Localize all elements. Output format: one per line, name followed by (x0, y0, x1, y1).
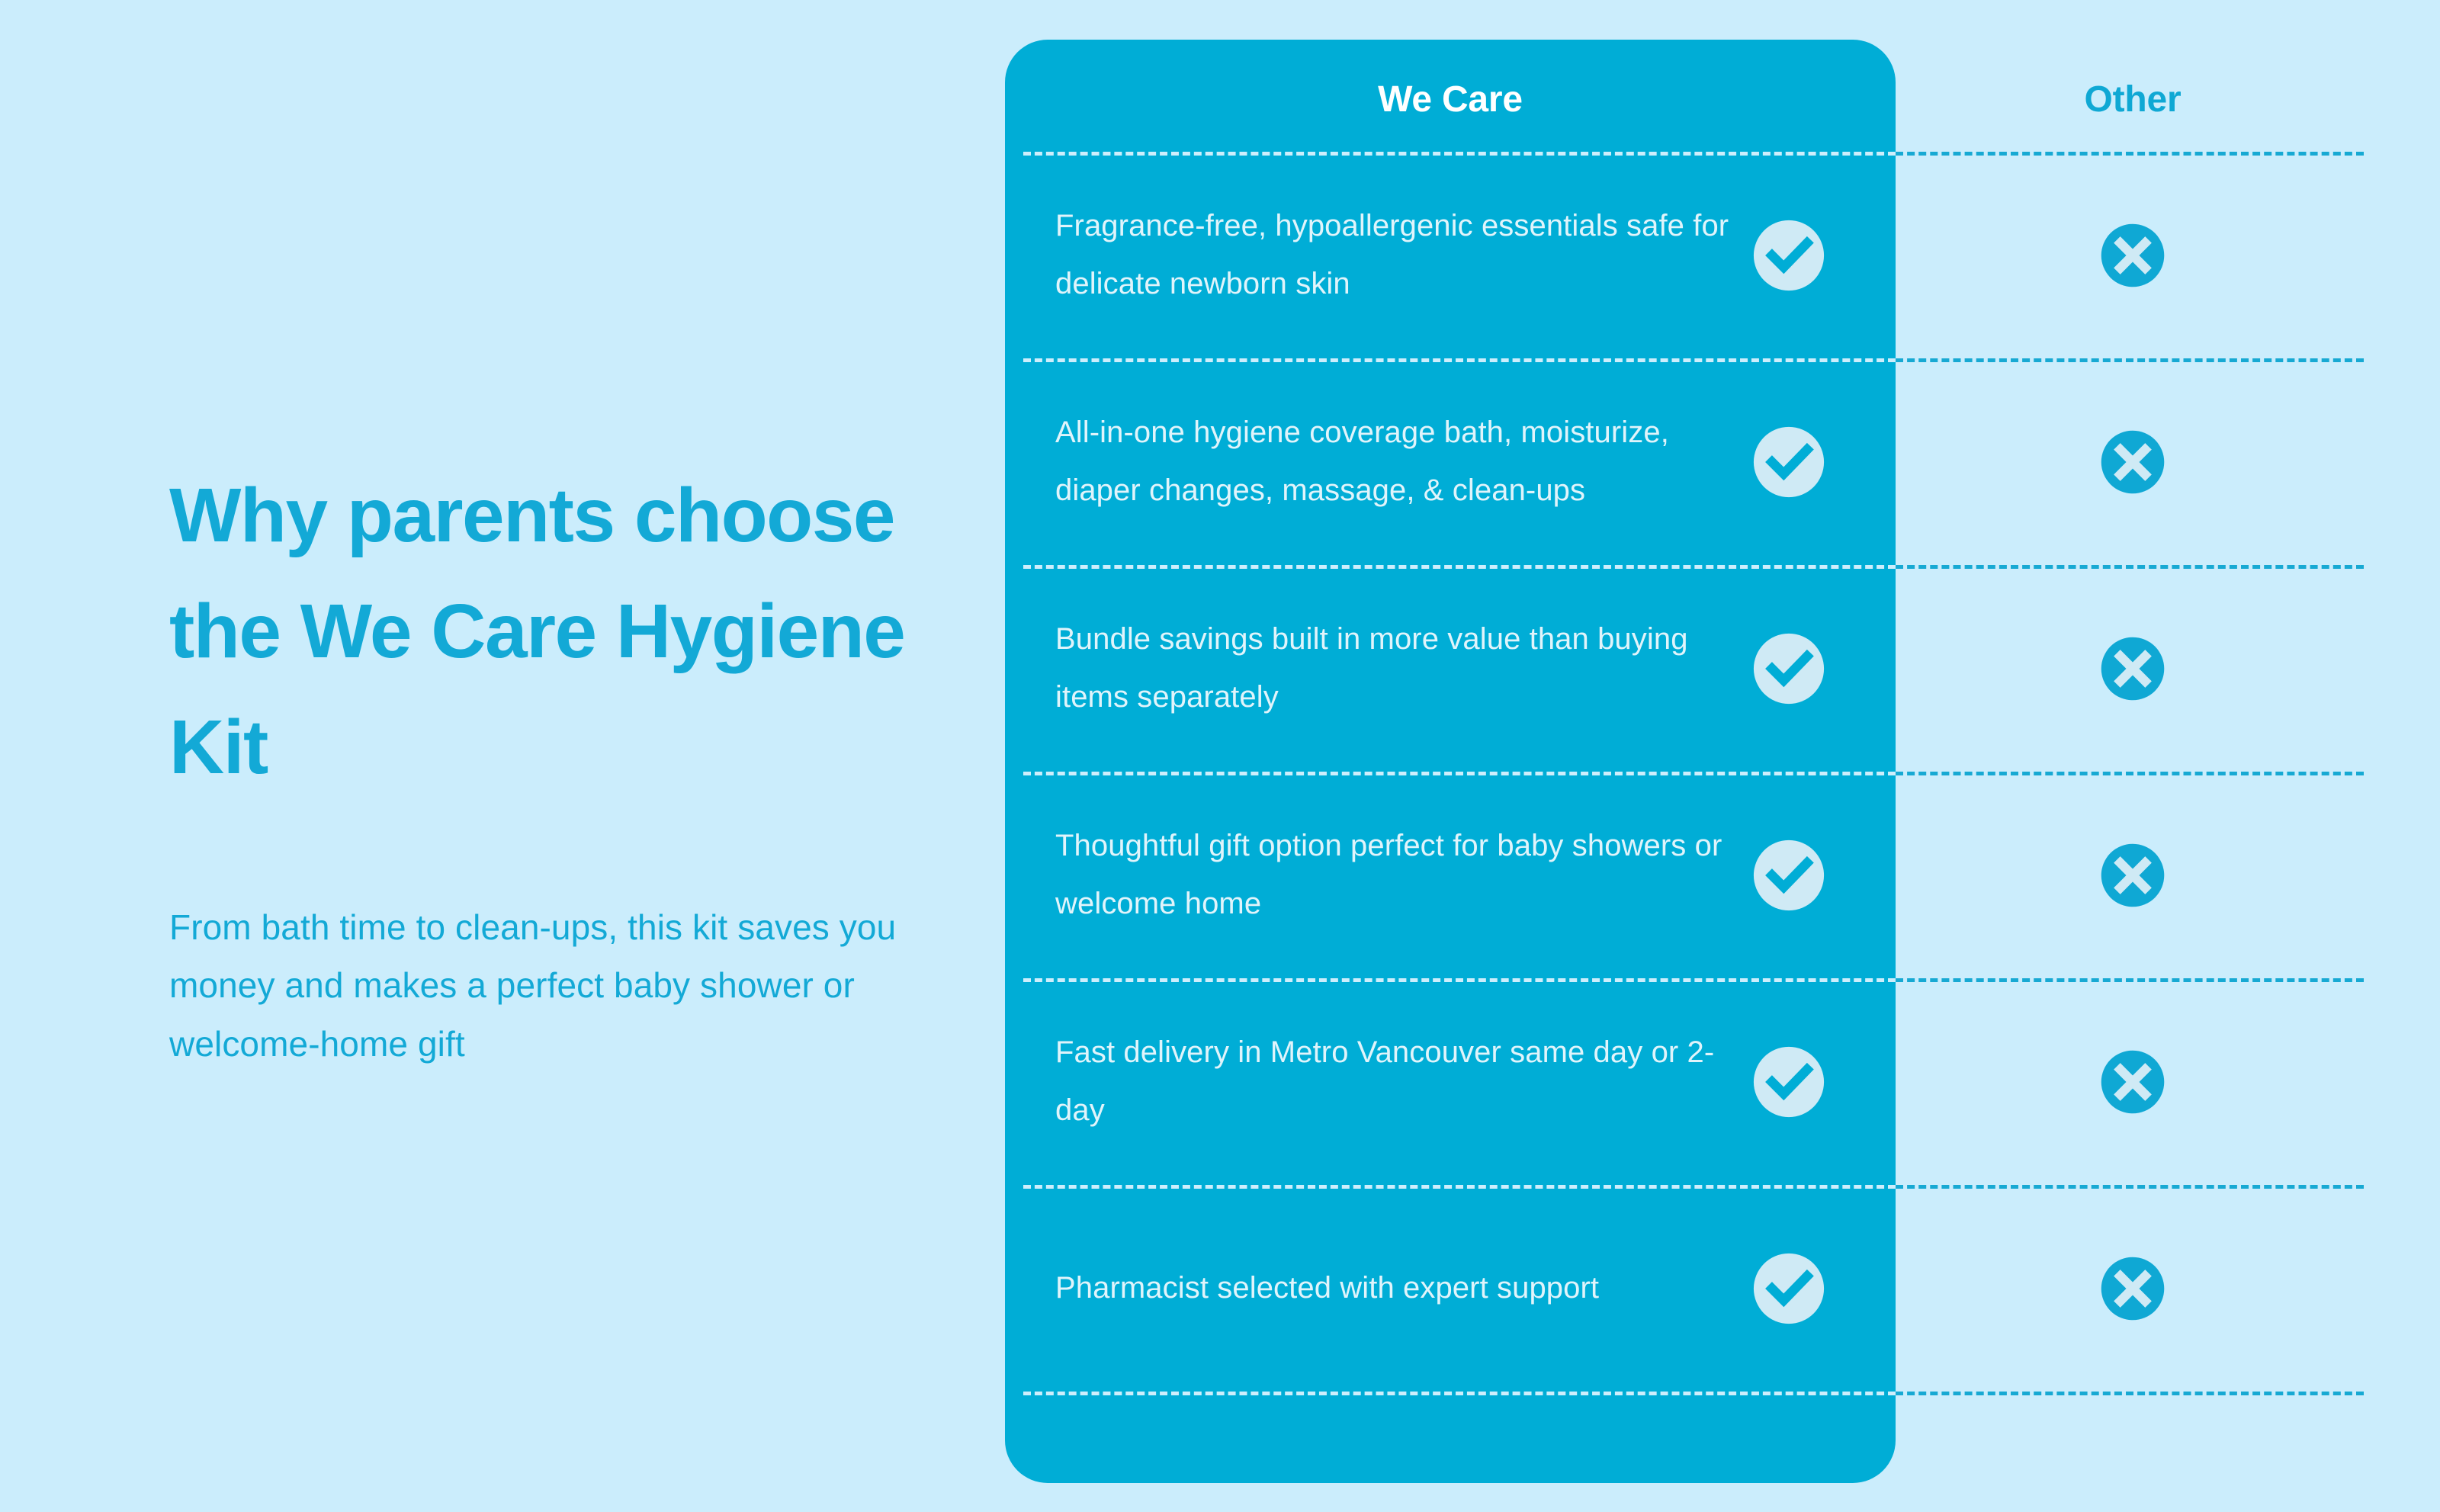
cell-other (1896, 772, 2370, 978)
comparison-header-row: We Care Other (1005, 40, 2370, 152)
comparison-table: We Care Other Fragrance-free, hypoallerg… (1005, 40, 2370, 1485)
cell-other (1896, 152, 2370, 358)
comparison-page: Why parents choose the We Care Hygiene K… (0, 0, 2440, 1512)
row-divider-outer (1896, 978, 2364, 982)
check-circle-icon (1752, 425, 1825, 499)
cell-other (1896, 978, 2370, 1185)
row-divider-outer (1896, 772, 2364, 775)
row-divider-inner (1023, 358, 1896, 362)
row-divider-outer (1896, 152, 2364, 156)
check-circle-icon (1752, 1045, 1825, 1119)
feature-label: Thoughtful gift option perfect for baby … (1055, 817, 1749, 932)
row-divider-inner (1023, 152, 1896, 156)
cell-other (1896, 358, 2370, 565)
row-divider-outer (1896, 1392, 2364, 1395)
cell-we-care: Fragrance-free, hypoallergenic essential… (1005, 152, 1896, 358)
feature-label: All-in-one hygiene coverage bath, moistu… (1055, 404, 1749, 518)
cell-other (1896, 1185, 2370, 1392)
cross-circle-icon (2100, 1256, 2165, 1321)
column-header-other: Other (1896, 40, 2370, 152)
cross-circle-icon (2100, 843, 2165, 908)
check-circle-icon (1752, 1252, 1825, 1325)
row-divider-outer (1896, 358, 2364, 362)
check-circle-icon (1752, 219, 1825, 292)
table-row: Bundle savings built in more value than … (1005, 565, 2370, 772)
cell-we-care: All-in-one hygiene coverage bath, moistu… (1005, 358, 1896, 565)
feature-label: Fragrance-free, hypoallergenic essential… (1055, 197, 1749, 312)
feature-label: Pharmacist selected with expert support (1055, 1260, 1749, 1317)
row-divider-inner (1023, 1185, 1896, 1189)
cell-we-care: Pharmacist selected with expert support (1005, 1185, 1896, 1392)
row-divider-outer (1896, 1185, 2364, 1189)
table-row: All-in-one hygiene coverage bath, moistu… (1005, 358, 2370, 565)
row-divider-inner (1023, 772, 1896, 775)
cell-other (1896, 565, 2370, 772)
intro-subcopy: From bath time to clean-ups, this kit sa… (169, 898, 978, 1073)
feature-label: Bundle savings built in more value than … (1055, 611, 1749, 725)
row-divider-inner (1023, 565, 1896, 569)
row-divider-outer (1896, 565, 2364, 569)
cell-we-care: Bundle savings built in more value than … (1005, 565, 1896, 772)
cross-circle-icon (2100, 1049, 2165, 1115)
cell-we-care: Thoughtful gift option perfect for baby … (1005, 772, 1896, 978)
table-row: Pharmacist selected with expert support (1005, 1185, 2370, 1392)
row-divider-inner (1023, 1392, 1896, 1395)
cross-circle-icon (2100, 636, 2165, 701)
comparison-grid: We Care Other Fragrance-free, hypoallerg… (1005, 40, 2370, 1483)
table-row: Thoughtful gift option perfect for baby … (1005, 772, 2370, 978)
table-row: Fast delivery in Metro Vancouver same da… (1005, 978, 2370, 1185)
cross-circle-icon (2100, 429, 2165, 495)
row-divider-inner (1023, 978, 1896, 982)
page-title: Why parents choose the We Care Hygiene K… (169, 457, 978, 805)
cell-we-care: Fast delivery in Metro Vancouver same da… (1005, 978, 1896, 1185)
feature-label: Fast delivery in Metro Vancouver same da… (1055, 1024, 1749, 1138)
table-row: Fragrance-free, hypoallergenic essential… (1005, 152, 2370, 358)
check-circle-icon (1752, 632, 1825, 705)
column-header-we-care: We Care (1005, 40, 1896, 152)
check-circle-icon (1752, 839, 1825, 912)
cross-circle-icon (2100, 223, 2165, 288)
intro-block: Why parents choose the We Care Hygiene K… (169, 457, 978, 1073)
